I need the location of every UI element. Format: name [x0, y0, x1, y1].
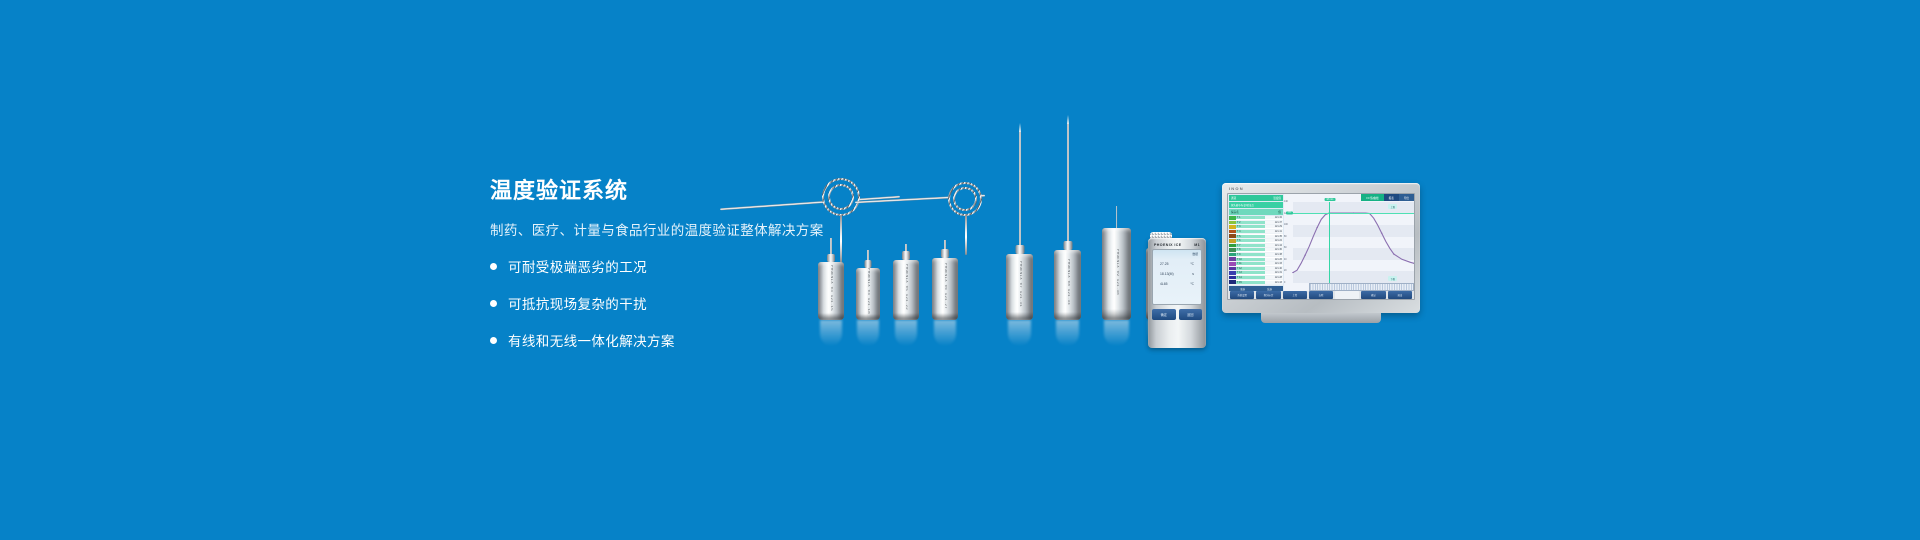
probe-5-label: PHOENIX 07 121.31	[1018, 261, 1022, 307]
bullet-dot-icon	[490, 337, 497, 344]
handheld-row-3: 4L65 ℃	[1156, 282, 1198, 286]
channel-name: T 11	[1236, 262, 1265, 265]
probe-6-reflection	[1056, 320, 1080, 346]
confirm-button[interactable]: 确认	[1361, 291, 1385, 299]
channel-value: 121.28	[1265, 276, 1283, 279]
software-toolbar: 系统设置 探头标定 上传 去除 确认 退出	[1228, 291, 1414, 299]
channel-name: T 2	[1236, 221, 1265, 224]
y-axis-tick: 20	[1284, 270, 1287, 272]
handheld-row-3-value: ℃	[1190, 282, 1194, 286]
chart-plot-area: 140120100806040200 121 18 min 121.3℃ 上限 …	[1293, 202, 1414, 283]
channel-value: 121.40	[1265, 267, 1283, 270]
probe-2-label: PHOENIX 04 121.18	[866, 268, 870, 314]
y-axis-tick: 60	[1284, 247, 1287, 249]
probe-needle-tall-1	[1019, 132, 1021, 260]
channel-name: T 6	[1236, 239, 1265, 242]
channel-value: 121.35	[1265, 235, 1283, 238]
channel-color-swatch	[1229, 244, 1236, 248]
handheld-screen: 数据 27.25 ℃ 18.13(M) s 4L65 ℃	[1152, 249, 1202, 305]
monitor-brand-label: INON	[1227, 186, 1415, 191]
exit-button[interactable]: 退出	[1388, 291, 1412, 299]
probe-1-body: PHOENIX 03 121.15	[818, 262, 844, 320]
handheld-logger-device[interactable]: PHOENIX ICE M1 数据 27.25 ℃ 18.13(M) s 4L6…	[1148, 238, 1206, 348]
probe-7-body: PHOENIX 09 121.38	[1102, 228, 1131, 320]
handheld-back-button[interactable]: 返回	[1179, 309, 1203, 320]
probe-2: PHOENIX 04 121.18	[856, 262, 880, 320]
channel-table: 通道 温度值 探头编号/标识/验证点 探头名 值 T 1121.32T 2121…	[1228, 194, 1284, 299]
chart-cursor-line[interactable]: 18 min 121.3℃	[1329, 202, 1330, 283]
probe-1-label: PHOENIX 03 121.15	[829, 265, 833, 311]
channel-table-header-left: 通道	[1231, 196, 1236, 200]
probe-3-cap	[902, 251, 910, 260]
probe-4-body: PHOENIX 06 121.27	[932, 258, 958, 320]
handheld-row-1: 27.25 ℃	[1156, 262, 1198, 266]
channel-value: 121.41	[1265, 230, 1283, 233]
bullet-dot-icon	[490, 300, 497, 307]
channel-color-swatch	[1229, 221, 1236, 225]
probe-4-label: PHOENIX 06 121.27	[943, 263, 947, 309]
probe-coil-left-inner	[828, 184, 854, 210]
channel-value: 121.31	[1265, 271, 1283, 274]
probe-6-label: PHOENIX 08 121.34	[1066, 259, 1070, 305]
probe-1-reflection	[820, 320, 843, 346]
chart-series-line	[1293, 202, 1414, 283]
validation-software-monitor: INON 通道 温度值 探头编号/标识/验证点 探头名 值 T 1121.32T…	[1222, 183, 1420, 313]
channel-value: 121.33	[1265, 262, 1283, 265]
toolbar-spacer	[1335, 291, 1359, 299]
channel-color-swatch	[1229, 239, 1236, 243]
y-axis-tick: 40	[1284, 259, 1287, 261]
channel-table-header-right: 温度值	[1273, 196, 1281, 200]
probe-1-cap	[827, 254, 835, 262]
channel-color-swatch	[1229, 262, 1236, 266]
setpoint-badge: 121	[1286, 211, 1293, 214]
channel-value: 121.44	[1265, 244, 1283, 247]
channel-name: T 12	[1236, 267, 1265, 270]
lower-limit-tag: 下限	[1388, 276, 1397, 281]
handheld-screen-title: 数据	[1156, 252, 1198, 256]
channel-color-swatch	[1229, 253, 1236, 257]
channel-name: T 10	[1236, 258, 1265, 261]
tab-report[interactable]: 报表	[1384, 194, 1399, 201]
channel-table-column-header: 探头名 值	[1229, 209, 1283, 215]
y-axis-tick: 100	[1284, 224, 1288, 226]
handheld-row-2-value: s	[1192, 272, 1194, 276]
probe-7: PHOENIX 09 121.38	[1102, 222, 1131, 320]
handheld-model-label: M1	[1194, 243, 1200, 247]
channel-value: 121.22	[1265, 239, 1283, 242]
channel-color-swatch	[1229, 248, 1236, 252]
setpoint-line: 121	[1293, 213, 1414, 214]
channel-value: 121.29	[1265, 225, 1283, 228]
system-settings-button[interactable]: 系统设置	[1230, 291, 1254, 299]
feature-label-2: 可抵抗现场复杂的干扰	[508, 293, 647, 313]
handheld-row-1-label: 27.25	[1160, 262, 1169, 266]
probe-2-cap	[865, 260, 872, 268]
probe-wire-long	[720, 196, 900, 210]
chart-x-axis-scrollbar[interactable]	[1309, 283, 1414, 291]
probe-6-body: PHOENIX 08 121.34	[1054, 250, 1081, 320]
remove-button[interactable]: 去除	[1309, 291, 1333, 299]
probe-6: PHOENIX 08 121.34	[1054, 244, 1081, 320]
probe-3-label: PHOENIX 05 121.22	[904, 264, 908, 310]
tab-f0-curve[interactable]: F0 值/曲线	[1361, 194, 1383, 201]
channel-name: T 8	[1236, 248, 1265, 251]
probe-7-stem	[1116, 206, 1118, 228]
channel-color-swatch	[1229, 276, 1236, 280]
feature-label-1: 可耐受极端恶劣的工况	[508, 256, 647, 276]
y-axis-tick: 80	[1284, 236, 1287, 238]
channel-color-swatch	[1229, 216, 1236, 220]
channel-value: 121.43	[1265, 281, 1283, 284]
bullet-dot-icon	[490, 263, 497, 270]
handheld-brand-row: PHOENIX ICE M1	[1152, 242, 1202, 249]
channel-color-swatch	[1229, 234, 1236, 238]
handheld-brand-label: PHOENIX ICE	[1154, 243, 1182, 247]
feature-label-3: 有线和无线一体化解决方案	[508, 330, 675, 350]
probe-2-body: PHOENIX 04 121.18	[856, 268, 880, 320]
handheld-row-1-value: ℃	[1190, 262, 1194, 266]
channel-color-swatch	[1229, 230, 1236, 234]
handheld-confirm-button[interactable]: 确定	[1152, 309, 1176, 320]
upload-button[interactable]: 上传	[1283, 291, 1307, 299]
probe-2-reflection	[857, 320, 878, 346]
probe-5-reflection	[1008, 320, 1032, 346]
channel-color-swatch	[1229, 267, 1236, 271]
channel-color-swatch	[1229, 280, 1236, 284]
probe-calibration-button[interactable]: 探头标定	[1256, 291, 1280, 299]
y-axis-tick: 140	[1284, 201, 1288, 203]
channel-value: 121.32	[1265, 216, 1283, 219]
column-header-value: 值	[1278, 210, 1281, 214]
channel-table-header: 通道 温度值	[1229, 195, 1283, 201]
probe-7-reflection	[1104, 320, 1130, 346]
probe-coil-leadin-right	[965, 215, 967, 255]
cursor-top-label: 18 min	[1324, 198, 1335, 201]
probe-3-reflection	[895, 320, 918, 346]
handheld-row-2-label: 18.13(M)	[1160, 272, 1174, 276]
probe-3: PHOENIX 05 121.22	[893, 254, 919, 320]
upper-limit-tag: 上限	[1388, 204, 1397, 209]
column-header-name: 探头名	[1231, 210, 1239, 214]
channel-value: 121.26	[1265, 258, 1283, 261]
channel-table-subheader: 探头编号/标识/验证点	[1229, 202, 1283, 208]
probe-5-cap	[1015, 245, 1024, 254]
probe-6-cap	[1063, 241, 1072, 250]
channel-value: 121.30	[1265, 248, 1283, 251]
probe-5-body: PHOENIX 07 121.31	[1006, 254, 1033, 320]
probe-4: PHOENIX 06 121.27	[932, 252, 958, 320]
probe-3-body: PHOENIX 05 121.22	[893, 260, 919, 320]
channel-name: T 1	[1236, 216, 1265, 219]
channel-name: T 14	[1236, 276, 1265, 279]
channel-value: 121.38	[1265, 253, 1283, 256]
product-photo-group: PHOENIX 03 121.15 PHOENIX 04 121.18 PHOE…	[700, 120, 1220, 320]
tab-export[interactable]: 导出	[1399, 194, 1414, 201]
hero-banner: 温度验证系统 制药、医疗、计量与食品行业的温度验证整体解决方案 可耐受极端恶劣的…	[0, 0, 1920, 540]
handheld-row-2: 18.13(M) s	[1156, 272, 1198, 276]
channel-name: T 13	[1236, 271, 1265, 274]
chart-tab-bar: F0 值/曲线 报表 导出	[1361, 194, 1414, 201]
channel-name: T 9	[1236, 253, 1265, 256]
probe-coil-right-inner	[953, 187, 977, 211]
probe-coil-leadin-left	[840, 215, 842, 263]
monitor-stand	[1261, 313, 1381, 323]
probe-4-cap	[941, 249, 949, 258]
channel-name: T 4	[1236, 230, 1265, 233]
y-axis-tick: 0	[1284, 282, 1285, 284]
handheld-button-row: 确定 返回	[1152, 309, 1202, 320]
channel-color-swatch	[1229, 271, 1236, 275]
probe-1: PHOENIX 03 121.15	[818, 258, 844, 320]
handheld-row-3-label: 4L65	[1160, 282, 1168, 286]
channel-table-body[interactable]: T 1121.32T 2121.37T 3121.29T 4121.41T 51…	[1229, 216, 1283, 285]
monitor-screen: 通道 温度值 探头编号/标识/验证点 探头名 值 T 1121.32T 2121…	[1227, 193, 1415, 300]
channel-name: T 3	[1236, 225, 1265, 228]
channel-color-swatch	[1229, 225, 1236, 229]
probe-5: PHOENIX 07 121.31	[1006, 248, 1033, 320]
probe-4-reflection	[934, 320, 957, 346]
temperature-chart: F0 值/曲线 报表 导出 140120100806040200 121 18 …	[1284, 194, 1414, 299]
channel-name: T 15	[1236, 281, 1265, 284]
table-row[interactable]: T 15121.43	[1229, 280, 1283, 285]
probe-7-label: PHOENIX 09 121.38	[1115, 249, 1119, 295]
channel-name: T 5	[1236, 235, 1265, 238]
channel-name: T 7	[1236, 244, 1265, 247]
channel-value: 121.37	[1265, 221, 1283, 224]
channel-color-swatch	[1229, 257, 1236, 261]
